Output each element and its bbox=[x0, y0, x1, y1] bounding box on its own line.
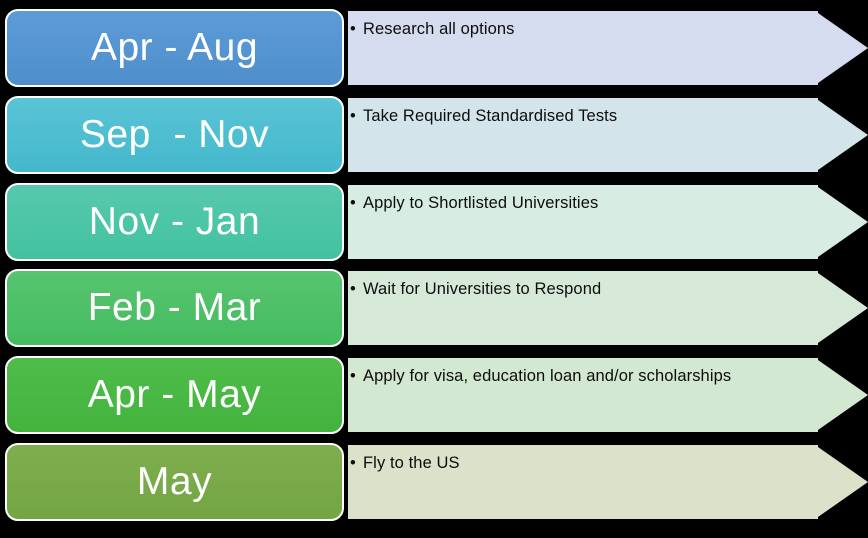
period-chip: Feb - Mar bbox=[5, 269, 344, 347]
period-chip: Apr - May bbox=[5, 356, 344, 434]
period-label: Nov - Jan bbox=[89, 201, 260, 243]
timeline-row: •Apply to Shortlisted UniversitiesNov - … bbox=[0, 185, 868, 263]
bullet-icon: • bbox=[350, 105, 363, 127]
timeline-row: •Wait for Universities to RespondFeb - M… bbox=[0, 271, 868, 349]
period-chip: Sep - Nov bbox=[5, 96, 344, 174]
period-label: Apr - May bbox=[88, 374, 262, 416]
period-label: Apr - Aug bbox=[91, 27, 258, 69]
bullet-icon: • bbox=[350, 365, 363, 387]
task-label: Take Required Standardised Tests bbox=[363, 105, 736, 127]
list-item: •Research all options bbox=[350, 18, 736, 40]
list-item: •Fly to the US bbox=[350, 452, 736, 474]
task-arrow-band: •Fly to the US bbox=[348, 445, 868, 523]
task-label: Wait for Universities to Respond bbox=[363, 278, 736, 300]
period-chip: May bbox=[5, 443, 344, 521]
period-label: Sep - Nov bbox=[80, 114, 269, 156]
bullet-icon: • bbox=[350, 278, 363, 300]
task-arrow-band: •Wait for Universities to Respond bbox=[348, 271, 868, 349]
task-label: Apply to Shortlisted Universities bbox=[363, 192, 736, 214]
task-label: Fly to the US bbox=[363, 452, 736, 474]
task-arrow-band: •Research all options bbox=[348, 11, 868, 89]
period-chip: Nov - Jan bbox=[5, 183, 344, 261]
list-item: •Take Required Standardised Tests bbox=[350, 105, 736, 127]
period-label: Feb - Mar bbox=[88, 287, 262, 329]
bullet-icon: • bbox=[350, 18, 363, 40]
period-label: May bbox=[137, 461, 212, 503]
bullet-icon: • bbox=[350, 452, 363, 474]
bullet-icon: • bbox=[350, 192, 363, 214]
timeline-row: •Take Required Standardised TestsSep - N… bbox=[0, 98, 868, 176]
task-text-wrapper: •Fly to the US bbox=[350, 445, 736, 523]
period-chip: Apr - Aug bbox=[5, 9, 344, 87]
timeline-diagram: •Research all optionsApr - Aug•Take Requ… bbox=[0, 0, 868, 538]
task-label: Apply for visa, education loan and/or sc… bbox=[363, 365, 736, 387]
task-text-wrapper: •Research all options bbox=[350, 11, 736, 89]
timeline-row: •Fly to the USMay bbox=[0, 445, 868, 523]
task-text-wrapper: •Wait for Universities to Respond bbox=[350, 271, 736, 349]
task-text-wrapper: •Apply to Shortlisted Universities bbox=[350, 185, 736, 263]
task-arrow-band: •Take Required Standardised Tests bbox=[348, 98, 868, 176]
task-text-wrapper: •Take Required Standardised Tests bbox=[350, 98, 736, 176]
list-item: •Apply to Shortlisted Universities bbox=[350, 192, 736, 214]
task-label: Research all options bbox=[363, 18, 736, 40]
task-arrow-band: •Apply for visa, education loan and/or s… bbox=[348, 358, 868, 436]
timeline-row: •Research all optionsApr - Aug bbox=[0, 11, 868, 89]
list-item: •Wait for Universities to Respond bbox=[350, 278, 736, 300]
task-text-wrapper: •Apply for visa, education loan and/or s… bbox=[350, 358, 736, 436]
timeline-row: •Apply for visa, education loan and/or s… bbox=[0, 358, 868, 436]
task-arrow-band: •Apply to Shortlisted Universities bbox=[348, 185, 868, 263]
list-item: •Apply for visa, education loan and/or s… bbox=[350, 365, 736, 387]
